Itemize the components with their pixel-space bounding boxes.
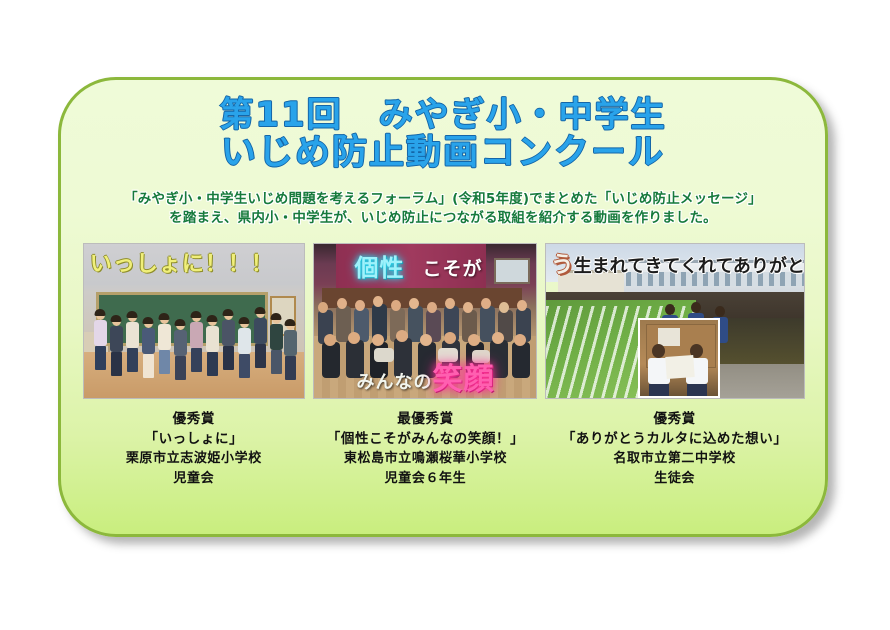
page-title: 第11回 みやぎ小・中学生 いじめ防止動画コンクール <box>61 96 825 173</box>
award-label-3: 優秀賞 <box>562 409 788 429</box>
school-name-2: 東松島市立鳴瀬桜華小学校 <box>327 449 524 469</box>
title-line-2: いじめ防止動画コンクール <box>61 134 825 173</box>
thumbnail-overlay-rest-3: 生まれてきてくれてありがとう <box>574 256 805 277</box>
thumbnail-overlay-text-2-top-1: 個性 <box>354 248 404 283</box>
thumbnail-overlay-text-2-bottom-1: みんなの <box>356 368 432 394</box>
award-label-1: 優秀賞 <box>126 409 262 429</box>
thumbnail-overlay-text-1: いっしょに！！！ <box>90 246 274 278</box>
poster-panel: 第11回 みやぎ小・中学生 いじめ防止動画コンクール 「みやぎ小・中学生いじめ問… <box>58 77 828 537</box>
award-label-2: 最優秀賞 <box>327 409 524 429</box>
entry-2: 個性 こそが みんなの 笑顔 最優秀賞 「個性こそがみんなの笑顔！」 東松島市立… <box>309 243 543 489</box>
school-name-1: 栗原市立志波姫小学校 <box>126 449 262 469</box>
group-name-3: 生徒会 <box>562 469 788 489</box>
caption-2: 最優秀賞 「個性こそがみんなの笑顔！」 東松島市立鳴瀬桜華小学校 児童会６年生 <box>327 409 524 489</box>
thumbnail-overlay-text-2-bottom-2: 笑顔 <box>432 354 494 398</box>
group-name-2: 児童会６年生 <box>327 469 524 489</box>
entry-1: いっしょに！！！ 優秀賞 「いっしょに」 栗原市立志波姫小学校 児童会 <box>79 243 309 489</box>
thumbnail-overlay-initial-3: う <box>551 252 574 278</box>
school-name-3: 名取市立第二中学校 <box>562 449 788 469</box>
video-thumbnail-1[interactable]: いっしょに！！！ <box>83 243 305 399</box>
group-name-1: 児童会 <box>126 469 262 489</box>
video-title-1: 「いっしょに」 <box>126 429 262 449</box>
title-line-1: 第11回 みやぎ小・中学生 <box>61 96 825 134</box>
student-group-1 <box>92 306 298 392</box>
description-line-1: 「みやぎ小・中学生いじめ問題を考えるフォーラム」(令和5年度)でまとめた「いじめ… <box>61 190 825 209</box>
caption-1: 優秀賞 「いっしょに」 栗原市立志波姫小学校 児童会 <box>126 409 262 489</box>
video-title-3: 「ありがとうカルタに込めた想い」 <box>562 429 788 449</box>
description-line-2: を踏まえ、県内小・中学生が、いじめ防止につながる取組を紹介する動画を作りました。 <box>61 209 825 228</box>
gym-screen <box>494 258 530 284</box>
thumbnail-overlay-text-2-top-2: こそが <box>422 254 482 281</box>
entry-3: う生まれてきてくれてありがとう 優秀賞 「ありがとうカルタに込めた想い」 名取市… <box>542 243 807 489</box>
video-thumbnail-2[interactable]: 個性 こそが みんなの 笑顔 <box>313 243 537 399</box>
video-title-2: 「個性こそがみんなの笑顔！」 <box>327 429 524 449</box>
caption-3: 優秀賞 「ありがとうカルタに込めた想い」 名取市立第二中学校 生徒会 <box>562 409 788 489</box>
description-block: 「みやぎ小・中学生いじめ問題を考えるフォーラム」(令和5年度)でまとめた「いじめ… <box>61 190 825 228</box>
inset-card <box>665 355 694 379</box>
gallery: いっしょに！！！ 優秀賞 「いっしょに」 栗原市立志波姫小学校 児童会 <box>61 243 825 489</box>
thumbnail-overlay-text-3: う生まれてきてくれてありがとう <box>551 245 805 279</box>
video-thumbnail-3[interactable]: う生まれてきてくれてありがとう <box>545 243 805 399</box>
inset-photo <box>638 318 720 398</box>
